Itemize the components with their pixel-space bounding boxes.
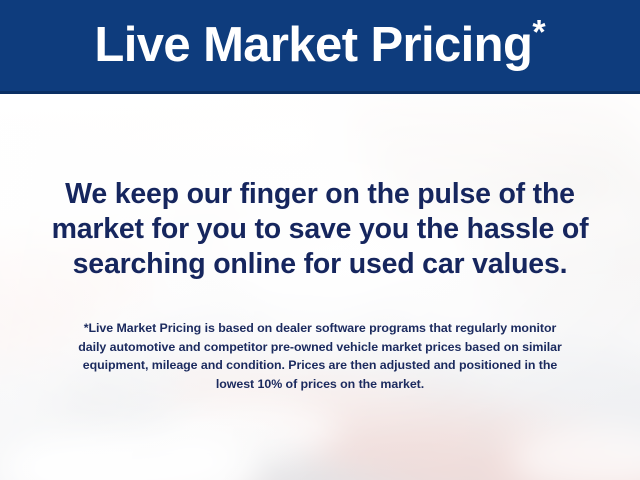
headline: We keep our finger on the pulse of the m… [20, 177, 620, 282]
disclaimer-line: daily automotive and competitor pre-owne… [28, 338, 612, 357]
headline-line: We keep our finger on the pulse of the [20, 177, 620, 212]
headline-line: market for you to save you the hassle of [20, 212, 620, 247]
disclaimer-footnote: *Live Market Pricing is based on dealer … [28, 319, 612, 393]
disclaimer-line: lowest 10% of prices on the market. [28, 375, 612, 394]
headline-line: searching online for used car values. [20, 247, 620, 282]
content-area: We keep our finger on the pulse of the m… [0, 94, 640, 480]
page-title-text: Live Market Pricing [94, 18, 532, 72]
page-title-asterisk: * [532, 14, 545, 52]
header-banner: Live Market Pricing* [0, 0, 640, 94]
live-market-pricing-card: Live Market Pricing* We keep our finger … [0, 0, 640, 480]
disclaimer-line: *Live Market Pricing is based on dealer … [28, 319, 612, 338]
disclaimer-line: equipment, mileage and condition. Prices… [28, 356, 612, 375]
page-title: Live Market Pricing* [94, 21, 545, 73]
